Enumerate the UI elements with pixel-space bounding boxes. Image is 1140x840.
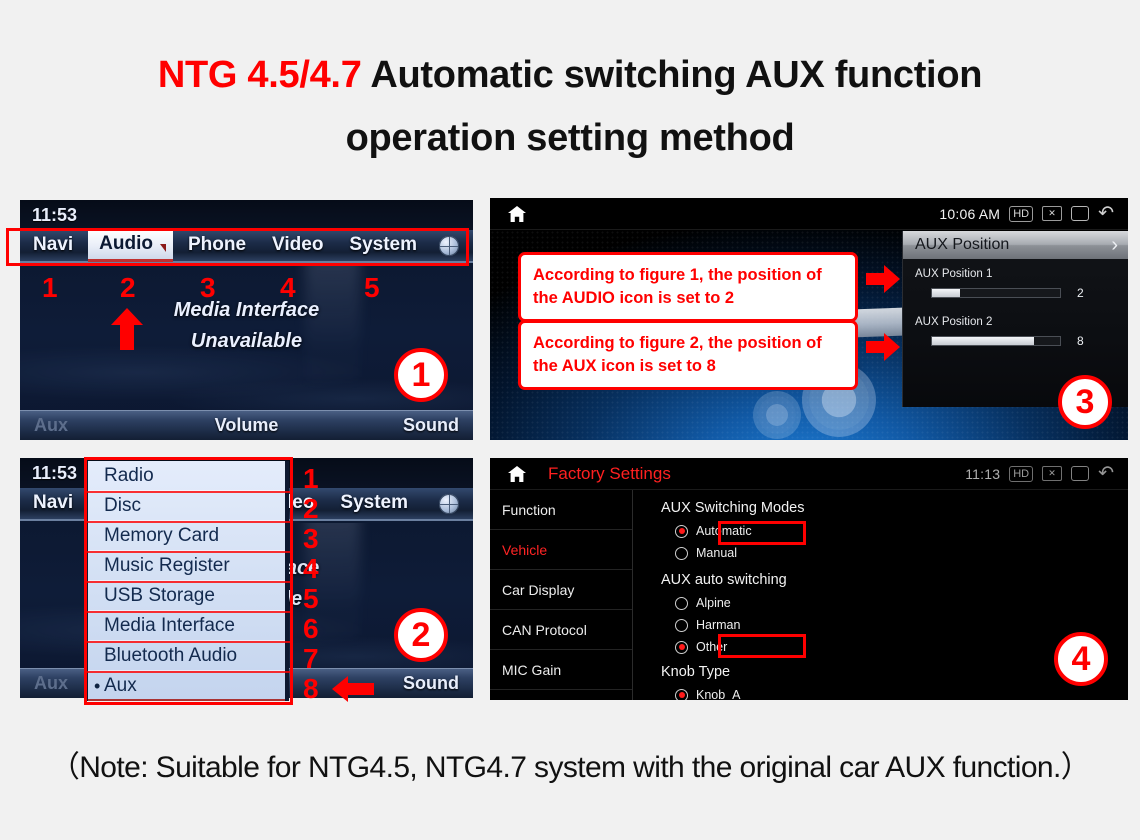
aux-position-2-value: 8 xyxy=(1077,334,1084,348)
hd-icon: HD xyxy=(1009,466,1033,482)
panel2-index-8: 8 xyxy=(303,673,319,705)
hd-icon: HD xyxy=(1009,206,1033,222)
window-icon[interactable] xyxy=(1071,206,1089,221)
panel1-step-badge: 1 xyxy=(394,348,448,402)
slider-track xyxy=(931,336,1061,346)
radio-icon-unchecked[interactable] xyxy=(675,597,688,610)
back-arrow-icon[interactable]: ↶ xyxy=(1098,204,1114,223)
slider-fill xyxy=(932,289,960,297)
aux-position-2-row: AUX Position 2 8 xyxy=(903,300,1128,348)
panel2-index-7: 7 xyxy=(303,643,319,675)
panel1-up-arrow-icon xyxy=(110,308,144,350)
panel1-status-line1: Media Interface xyxy=(20,295,473,326)
panel4-sidebar: Function Vehicle Car Display CAN Protoco… xyxy=(490,490,633,700)
page-title: NTG 4.5/4.7 Automatic switching AUX func… xyxy=(0,44,1140,169)
panel2-row-separator xyxy=(84,521,293,523)
panel4-status-bar: Factory Settings 11:13 HD ✕ ↶ xyxy=(490,458,1128,490)
sidebar-item-can-protocol[interactable]: CAN Protocol xyxy=(490,610,632,650)
radio-label: Manual xyxy=(696,546,737,560)
group-title-aux-auto-switching: AUX auto switching xyxy=(661,572,1128,588)
panel2-index-1: 1 xyxy=(303,463,319,495)
aux-position-1-row: AUX Position 1 2 xyxy=(903,259,1128,300)
radio-alpine[interactable]: Alpine xyxy=(675,592,1128,614)
panel2-tab-system[interactable]: System xyxy=(329,489,419,518)
panel2-row-separator xyxy=(84,491,293,493)
slider-track xyxy=(931,288,1061,298)
panel1-number-5: 5 xyxy=(364,272,380,304)
panel1-volume-label[interactable]: Volume xyxy=(20,415,473,436)
sidebar-item-function[interactable]: Function xyxy=(490,490,632,530)
aux-position-1-label: AUX Position 1 xyxy=(915,268,1128,280)
panel3-callout-1-arrow-icon xyxy=(866,265,900,293)
panel4-automatic-highlight xyxy=(718,521,806,545)
back-arrow-icon[interactable]: ↶ xyxy=(1098,464,1114,483)
radio-label: Knob_A xyxy=(696,688,740,700)
panel2-row-separator xyxy=(84,611,293,613)
radio-icon-unchecked[interactable] xyxy=(675,619,688,632)
panel1-number-1: 1 xyxy=(42,272,58,304)
panel-4-factory-settings-screen: Factory Settings 11:13 HD ✕ ↶ Function V… xyxy=(490,458,1128,700)
panel2-tab-navi[interactable]: Navi xyxy=(22,489,84,518)
home-icon[interactable] xyxy=(508,466,526,482)
footer-note: （Note: Suitable for NTG4.5, NTG4.7 syste… xyxy=(0,742,1140,786)
panel2-index-3: 3 xyxy=(303,523,319,555)
panel2-row-separator xyxy=(84,551,293,553)
close-box-icon[interactable]: ✕ xyxy=(1042,466,1062,481)
sidebar-item-mic-gain[interactable]: MIC Gain xyxy=(490,650,632,690)
radio-knob-a[interactable]: Knob_A xyxy=(675,684,1128,700)
panel4-clock: 11:13 xyxy=(965,466,1000,482)
panel4-status-icons: 11:13 HD ✕ ↶ xyxy=(965,464,1128,483)
radio-manual[interactable]: Manual xyxy=(675,542,1128,564)
panel1-number-3: 3 xyxy=(200,272,216,304)
panel2-index-4: 4 xyxy=(303,553,319,585)
group-title-aux-switching-modes: AUX Switching Modes xyxy=(661,500,1128,516)
panel1-tabbar-highlight xyxy=(6,228,469,266)
panel4-other-highlight xyxy=(718,634,806,658)
panel2-index-2: 2 xyxy=(303,493,319,525)
panel1-status-message: Media Interface Unavailable xyxy=(20,295,473,357)
panel2-aux-label[interactable]: Aux xyxy=(20,673,68,694)
panel1-number-4: 4 xyxy=(280,272,296,304)
aux-position-1-slider[interactable]: 2 xyxy=(931,286,1128,300)
radio-icon-unchecked[interactable] xyxy=(675,547,688,560)
radio-icon-checked[interactable] xyxy=(675,689,688,701)
aux-position-title: AUX Position xyxy=(915,236,1009,254)
radio-icon-checked[interactable] xyxy=(675,525,688,538)
panel1-bottombar: Aux Volume Sound xyxy=(20,410,473,440)
panel3-status-icons: 10:06 AM HD ✕ ↶ xyxy=(939,204,1128,223)
sidebar-item-car-display[interactable]: Car Display xyxy=(490,570,632,610)
panel2-left-arrow-icon xyxy=(332,676,374,702)
panel3-callout-2: According to figure 2, the position of t… xyxy=(518,320,858,390)
window-icon[interactable] xyxy=(1071,466,1089,481)
aux-position-2-slider[interactable]: 8 xyxy=(931,334,1128,348)
panel3-callout-2-arrow-icon xyxy=(866,333,900,361)
panel2-index-5: 5 xyxy=(303,583,319,615)
radio-harman[interactable]: Harman xyxy=(675,614,1128,636)
radio-label: Harman xyxy=(696,618,740,632)
home-icon[interactable] xyxy=(508,206,526,222)
panel3-callout-2-text: According to figure 2, the position of t… xyxy=(533,334,822,375)
panel2-index-6: 6 xyxy=(303,613,319,645)
poster-root: NTG 4.5/4.7 Automatic switching AUX func… xyxy=(0,0,1140,840)
sidebar-item-vehicle[interactable]: Vehicle xyxy=(490,530,632,570)
aux-position-1-value: 2 xyxy=(1077,286,1084,300)
panel2-row-separator xyxy=(84,671,293,673)
panel4-settings-content: AUX Switching Modes Automatic Manual AUX… xyxy=(633,490,1128,700)
radio-label: Alpine xyxy=(696,596,731,610)
page-title-rest: Automatic switching AUX function xyxy=(362,54,983,96)
globe-icon[interactable] xyxy=(439,494,459,514)
page-title-highlight: NTG 4.5/4.7 xyxy=(158,54,362,96)
panel2-row-separator xyxy=(84,641,293,643)
panel3-step-badge: 3 xyxy=(1058,375,1112,429)
panel3-callout-1-text: According to figure 1, the position of t… xyxy=(533,266,822,307)
panel1-clock: 11:53 xyxy=(20,200,473,230)
slider-fill xyxy=(932,337,1034,345)
panel2-row-separator xyxy=(84,581,293,583)
decor-gear-small xyxy=(758,396,796,434)
panel3-status-bar: 10:06 AM HD ✕ ↶ xyxy=(490,198,1128,230)
panel3-callout-1: According to figure 1, the position of t… xyxy=(518,252,858,322)
panel2-step-badge: 2 xyxy=(394,608,448,662)
panel1-number-2: 2 xyxy=(120,272,136,304)
page-title-factory-settings: Factory Settings xyxy=(548,464,671,484)
panel3-clock: 10:06 AM xyxy=(939,206,1000,222)
radio-icon-checked[interactable] xyxy=(675,641,688,654)
aux-position-2-label: AUX Position 2 xyxy=(915,316,1128,328)
close-box-icon[interactable]: ✕ xyxy=(1042,206,1062,221)
page-title-line2: operation setting method xyxy=(346,117,795,159)
chevron-right-icon[interactable]: › xyxy=(1111,234,1118,257)
panel4-step-badge: 4 xyxy=(1054,632,1108,686)
aux-position-header[interactable]: AUX Position › xyxy=(903,231,1128,259)
panel2-sound-label[interactable]: Sound xyxy=(403,673,473,694)
